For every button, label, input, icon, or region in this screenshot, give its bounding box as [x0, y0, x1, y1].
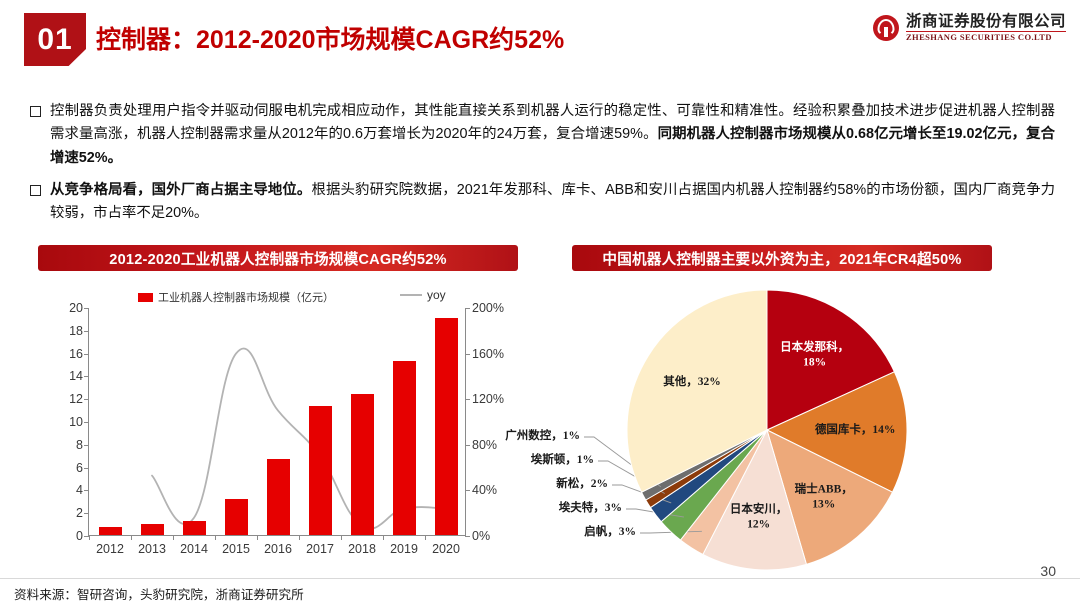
pie-label-启帆: 启帆，3% — [584, 525, 636, 541]
y-axis-right-tick-mark — [465, 399, 470, 400]
pie-label-埃夫特: 埃夫特，3% — [559, 501, 622, 517]
pie-label-其他: 其他，32% — [663, 376, 721, 392]
brand-text: 浙商证券股份有限公司 ZHESHANG SECURITIES CO.LTD — [906, 14, 1066, 42]
body-bullets: 控制器负责处理用户指令并驱动伺服电机完成相应动作，其性能直接关系到机器人运行的稳… — [30, 100, 1055, 235]
x-axis-tick-label: 2016 — [264, 542, 292, 556]
bullet-square-icon — [30, 185, 41, 196]
right-chart-title: 中国机器人控制器主要以外资为主，2021年CR4超50% — [572, 245, 992, 271]
market-share-pie-chart: 日本发那科，18%德国库卡，14%瑞士ABB，13%日本安川，12%启帆，3%埃… — [552, 282, 1022, 582]
x-axis-tick-mark — [131, 535, 132, 540]
bullet-item: 从竞争格局看，国外厂商占据主导地位。根据头豹研究院数据，2021年发那科、库卡、… — [30, 179, 1055, 226]
x-axis-tick-mark — [215, 535, 216, 540]
x-axis-tick-label: 2013 — [138, 542, 166, 556]
page-title: 控制器：2012-2020市场规模CAGR约52% — [96, 20, 564, 56]
pie-label-埃斯顿: 埃斯顿，1% — [531, 453, 594, 469]
left-chart-panel: 2012-2020工业机器人控制器市场规模CAGR约52% — [38, 245, 518, 271]
market-size-bar-chart: 工业机器人控制器市场规模（亿元） yoy 024681012141618200%… — [38, 288, 528, 573]
legend-item-line: yoy — [400, 288, 446, 302]
pie-label-新松: 新松，2% — [556, 477, 608, 493]
x-axis-tick-mark — [89, 535, 90, 540]
x-axis-tick-label: 2020 — [432, 542, 460, 556]
x-axis-tick-mark — [257, 535, 258, 540]
x-axis-tick-mark — [383, 535, 384, 540]
x-axis-tick-mark — [425, 535, 426, 540]
legend-swatch-icon — [138, 293, 153, 302]
y-axis-left-tick-mark — [84, 468, 89, 469]
bar-2019 — [393, 361, 416, 535]
legend-label-line: yoy — [427, 288, 446, 302]
x-axis-tick-label: 2018 — [348, 542, 376, 556]
bullet-text: 控制器负责处理用户指令并驱动伺服电机完成相应动作，其性能直接关系到机器人运行的稳… — [50, 100, 1055, 170]
bar-2018 — [351, 394, 374, 535]
footer-divider — [0, 578, 1080, 579]
page-number: 30 — [1040, 563, 1056, 579]
left-chart-title: 2012-2020工业机器人控制器市场规模CAGR约52% — [38, 245, 518, 271]
y-axis-left-tick-mark — [84, 445, 89, 446]
y-axis-right-tick-label: 120% — [465, 392, 504, 406]
slide-header: 01 控制器：2012-2020市场规模CAGR约52% 浙商证券股份有限公司 … — [0, 0, 1080, 78]
bar-2012 — [99, 527, 122, 535]
legend-label-bars: 工业机器人控制器市场规模（亿元） — [158, 289, 334, 305]
y-axis-left-tick-mark — [84, 331, 89, 332]
y-axis-right-tick-mark — [465, 536, 470, 537]
x-axis-tick-label: 2017 — [306, 542, 334, 556]
x-axis-tick-label: 2019 — [390, 542, 418, 556]
x-axis-tick-mark — [341, 535, 342, 540]
pie-label-日本发那科: 日本发那科，18% — [780, 340, 849, 371]
legend-item-bars: 工业机器人控制器市场规模（亿元） — [138, 289, 334, 305]
y-axis-right-tick-mark — [465, 308, 470, 309]
y-axis-left-tick-mark — [84, 308, 89, 309]
x-axis-tick-label: 2012 — [96, 542, 124, 556]
x-axis-tick-label: 2014 — [180, 542, 208, 556]
y-axis-right-tick-label: 160% — [465, 347, 504, 361]
brand-name-en: ZHESHANG SECURITIES CO.LTD — [906, 33, 1066, 42]
x-axis-tick-mark — [299, 535, 300, 540]
y-axis-left-tick-mark — [84, 399, 89, 400]
bullet-item: 控制器负责处理用户指令并驱动伺服电机完成相应动作，其性能直接关系到机器人运行的稳… — [30, 100, 1055, 170]
section-number-badge: 01 — [24, 13, 86, 66]
bar-2015 — [225, 499, 248, 535]
x-axis-tick-mark — [173, 535, 174, 540]
bullet-square-icon — [30, 106, 41, 117]
pie-label-日本安川: 日本安川，12% — [730, 502, 788, 533]
bullet-text: 从竞争格局看，国外厂商占据主导地位。根据头豹研究院数据，2021年发那科、库卡、… — [50, 179, 1055, 226]
pie-label-瑞士ABB: 瑞士ABB，13% — [795, 482, 853, 513]
bar-2020 — [435, 318, 458, 535]
y-axis-right-tick-mark — [465, 354, 470, 355]
legend-line-icon — [400, 294, 422, 296]
pie-label-广州数控: 广州数控，1% — [505, 429, 580, 445]
right-chart-panel: 中国机器人控制器主要以外资为主，2021年CR4超50% — [552, 245, 1012, 271]
bar-2017 — [309, 406, 332, 535]
bar-chart-plot-area: 024681012141618200%40%80%120%160%200%201… — [88, 308, 466, 536]
bar-2016 — [267, 459, 290, 535]
x-axis-tick-label: 2015 — [222, 542, 250, 556]
y-axis-left-tick-mark — [84, 490, 89, 491]
y-axis-left-tick-mark — [84, 354, 89, 355]
y-axis-right-tick-label: 200% — [465, 301, 504, 315]
bar-2013 — [141, 524, 164, 535]
brand-name-cn: 浙商证券股份有限公司 — [906, 14, 1066, 30]
source-note: 资料来源：智研咨询，头豹研究院，浙商证券研究所 — [14, 584, 304, 603]
y-axis-left-tick-mark — [84, 422, 89, 423]
zheshang-logo-icon — [873, 15, 899, 41]
pie-label-德国库卡: 德国库卡，14% — [815, 424, 896, 440]
y-axis-right-tick-mark — [465, 445, 470, 446]
company-logo: 浙商证券股份有限公司 ZHESHANG SECURITIES CO.LTD — [873, 14, 1066, 42]
bullet-text-segment: 从竞争格局看，国外厂商占据主导地位。 — [50, 182, 311, 198]
y-axis-left-tick-mark — [84, 513, 89, 514]
y-axis-right-tick-mark — [465, 490, 470, 491]
bar-2014 — [183, 521, 206, 535]
y-axis-left-tick-mark — [84, 376, 89, 377]
